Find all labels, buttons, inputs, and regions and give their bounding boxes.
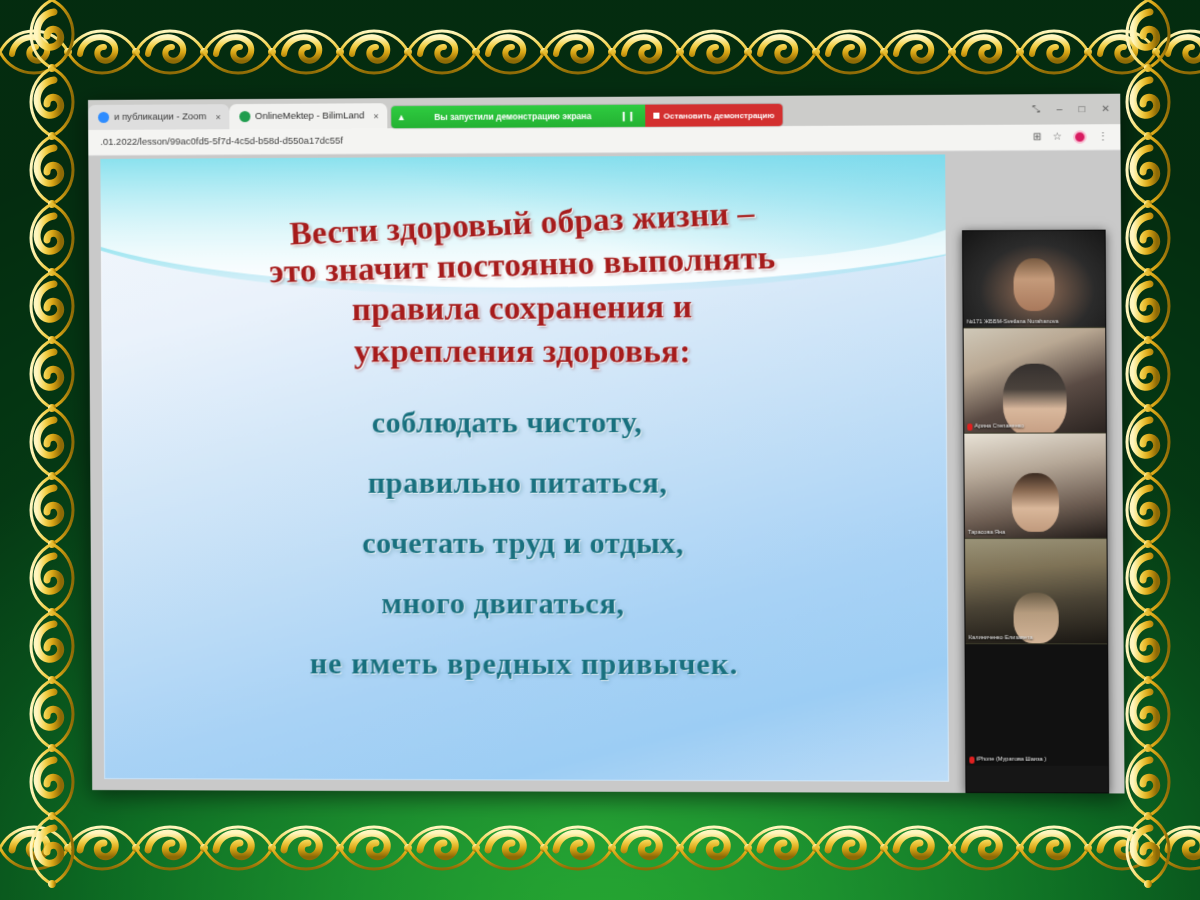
stop-share-button[interactable]: Остановить демонстрацию	[645, 104, 782, 127]
participant-tile[interactable]: Тарасова Яна	[964, 433, 1106, 538]
ornament-border-top	[0, 18, 1200, 86]
presentation-frame: и публикации - Zoom × OnlineMektep - Bil…	[0, 0, 1200, 900]
close-icon[interactable]: ✕	[1101, 103, 1110, 114]
ornament-border-left	[18, 0, 86, 900]
ornament-border-bottom	[0, 814, 1200, 882]
install-icon[interactable]: ⊞	[1033, 132, 1042, 143]
list-item: много двигаться,	[129, 589, 921, 620]
tab-label: и публикации - Zoom	[114, 111, 206, 123]
participant-tile[interactable]: Арина Степаненко	[964, 328, 1106, 434]
minimize-icon[interactable]: –	[1057, 104, 1063, 115]
tab-list: и публикации - Zoom × OnlineMektep - Bil…	[88, 94, 1018, 130]
participant-face	[1012, 473, 1060, 532]
profile-avatar[interactable]	[1073, 130, 1086, 143]
screen-share-bar: ▲ Вы запустили демонстрацию экрана ❙❙ Ос…	[391, 104, 783, 128]
zoom-favicon	[98, 112, 109, 123]
participant-name: Арина Степаненко	[974, 424, 1024, 430]
tab-zoom[interactable]: и публикации - Zoom ×	[88, 104, 229, 130]
tab-label: OnlineMektep - BilimLand	[255, 110, 364, 122]
url-text[interactable]: .01.2022/lesson/99ac0fd5-5f7d-4c5d-b58d-…	[100, 132, 1024, 148]
zoom-participant-panel: №171 ЖББМ-Svetlana Nurahanova Арина Степ…	[962, 230, 1109, 794]
bookmark-star-icon[interactable]: ☆	[1053, 132, 1062, 143]
list-item: сочетать труд и отдых,	[129, 528, 921, 558]
list-item: правильно питаться,	[128, 468, 920, 499]
list-item: соблюдать чистоту,	[128, 407, 920, 439]
browser-window: и публикации - Zoom × OnlineMektep - Bil…	[88, 94, 1125, 794]
participant-name-row: Арина Степаненко	[967, 423, 1102, 430]
address-bar-icons: ⊞ ☆ ⋮	[1033, 130, 1108, 144]
participant-tile[interactable]: Калиниченко Елизавета	[965, 539, 1107, 644]
lesson-slide: Вести здоровый образ жизни – это значит …	[100, 154, 949, 781]
participant-name-row: iPhone (Муратова Шаиза )	[969, 757, 1104, 764]
slide-bullet-list: соблюдать чистоту, правильно питаться, с…	[128, 407, 922, 680]
participant-tile[interactable]: iPhone (Мурато… iPhone (Муратова Шаиза )	[966, 644, 1108, 766]
participant-video	[966, 644, 1108, 766]
tab-close-icon[interactable]: ×	[216, 112, 221, 122]
browser-tab-strip: и публикации - Zoom × OnlineMektep - Bil…	[88, 94, 1120, 130]
window-controls: ⤡ – □ ✕	[1018, 94, 1121, 125]
share-screen-icon: ▲	[397, 112, 406, 122]
tab-close-icon[interactable]: ×	[373, 111, 378, 121]
participant-name: Тарасова Яна	[968, 530, 1103, 536]
slide-title-line: правила сохранения и	[169, 284, 878, 333]
maximize-icon[interactable]: □	[1079, 104, 1085, 115]
slide-title: Вести здоровый образ жизни – это значит …	[168, 199, 877, 374]
participant-name: Калиниченко Елизавета	[969, 635, 1104, 641]
participant-name: №171 ЖББМ-Svetlana Nurahanova	[967, 319, 1102, 326]
menu-dots-icon[interactable]: ⋮	[1098, 131, 1108, 142]
participant-tile[interactable]: №171 ЖББМ-Svetlana Nurahanova	[963, 231, 1105, 329]
ornament-border-right	[1114, 0, 1182, 900]
participant-face	[1013, 258, 1054, 311]
pause-icon[interactable]: ❙❙	[620, 110, 635, 121]
bilimland-favicon	[239, 111, 250, 122]
stop-square-icon	[653, 113, 659, 119]
share-status: ▲ Вы запустили демонстрацию экрана ❙❙	[391, 105, 646, 129]
microphone-muted-icon	[969, 757, 974, 764]
stop-share-label: Остановить демонстрацию	[664, 110, 775, 120]
page-content: Вести здоровый образ жизни – это значит …	[88, 150, 1124, 793]
share-status-label: Вы запустили демонстрацию экрана	[434, 111, 591, 122]
list-item: не иметь вредных привычек.	[129, 649, 921, 680]
microphone-muted-icon	[967, 424, 972, 431]
restore-icon[interactable]: ⤡	[1032, 104, 1040, 115]
participant-name: iPhone (Муратова Шаиза )	[977, 757, 1047, 763]
slide-title-line: укрепления здоровья:	[169, 330, 877, 374]
tab-onlinemektep[interactable]: OnlineMektep - BilimLand ×	[229, 103, 387, 129]
